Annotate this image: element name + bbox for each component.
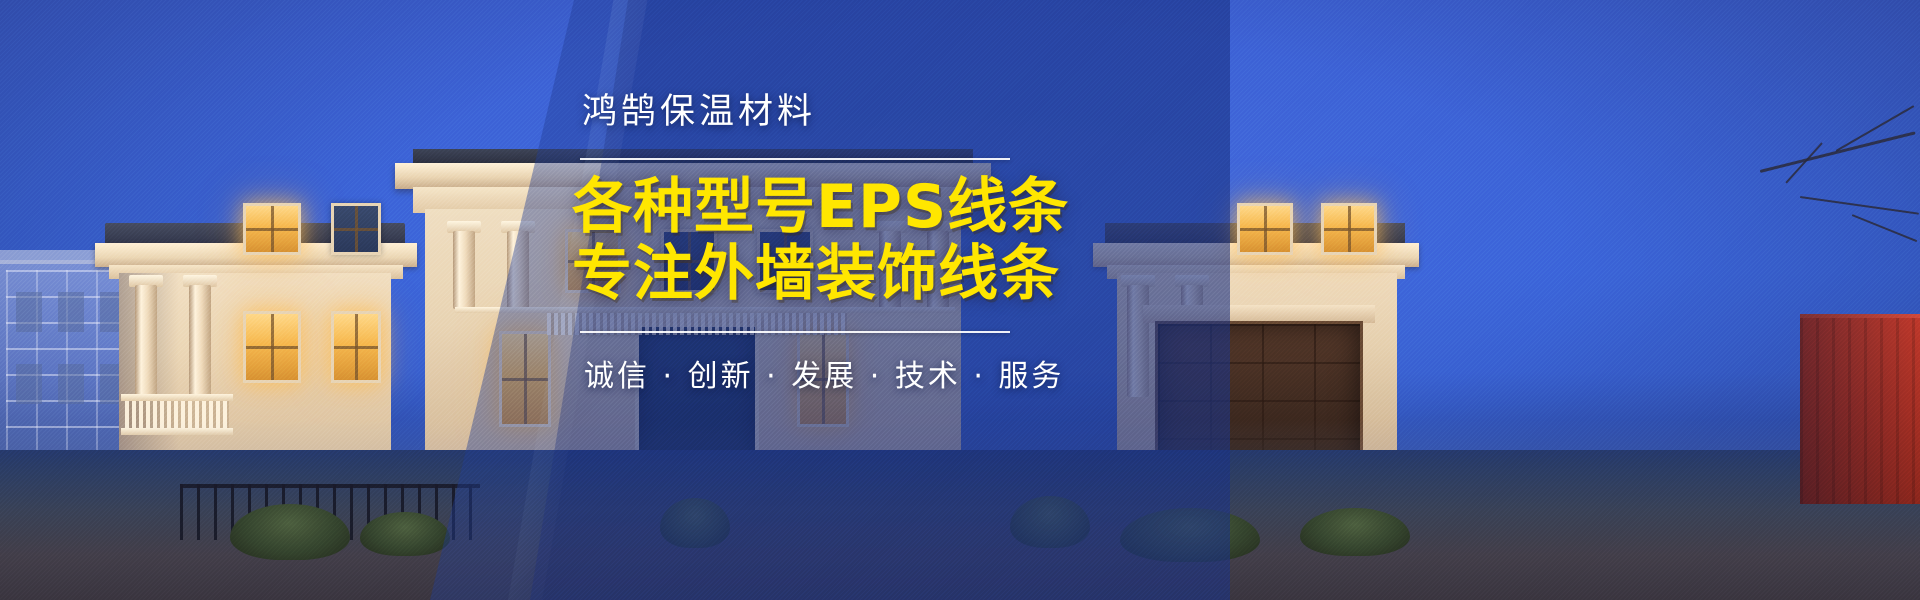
divider-bottom [580,331,1010,333]
window-lit [243,311,301,383]
banner-copy: 鸿鹄保温材料 各种型号EPS线条 专注外墙装饰线条 诚信 · 创新 · 发展 ·… [560,92,1320,395]
hero-banner: 鸿鹄保温材料 各种型号EPS线条 专注外墙装饰线条 诚信 · 创新 · 发展 ·… [0,0,1920,600]
window-lit [243,203,301,255]
headline-line-2: 专注外墙装饰线条 [572,241,1320,308]
brand-name: 鸿鹄保温材料 [560,92,1320,132]
headline: 各种型号EPS线条 专注外墙装饰线条 [560,174,1320,308]
headline-line-1: 各种型号EPS线条 [572,174,1320,241]
window-lit [331,311,381,383]
window-dark [331,203,381,255]
window-lit [499,331,551,427]
window-lit [1321,203,1377,255]
divider-top [580,158,1010,160]
tagline: 诚信 · 创新 · 发展 · 技术 · 服务 [584,351,1320,395]
